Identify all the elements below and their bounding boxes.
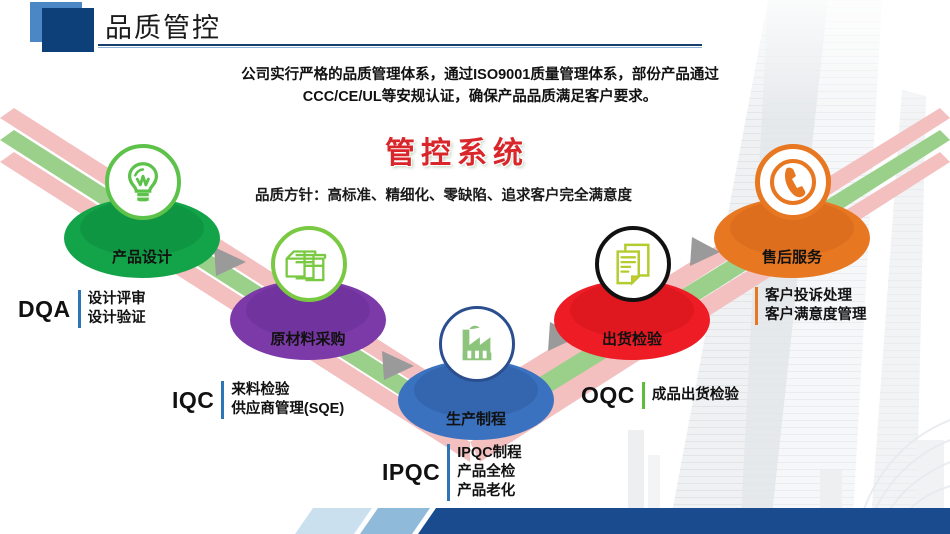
intro-line-1: 公司实行严格的品质管理体系，通过ISO9001质量管理体系，部份产品通过 xyxy=(241,67,719,83)
boxes-icon xyxy=(284,242,334,286)
tag-code: OQC xyxy=(581,382,635,409)
process-node-production[interactable]: 生产制程 xyxy=(396,352,556,442)
node-icon-badge xyxy=(105,144,181,220)
tag-dqa: DQA 设计评审 设计验证 xyxy=(18,290,146,328)
tag-accent-bar xyxy=(755,287,758,325)
tag-lines: 来料检验 供应商管理(SQE) xyxy=(231,381,344,419)
tag-code: IQC xyxy=(172,387,214,414)
tag-line: 供应商管理(SQE) xyxy=(231,401,344,417)
intro-paragraph: 公司实行严格的品质管理体系，通过ISO9001质量管理体系，部份产品通过 CCC… xyxy=(100,64,860,109)
node-icon-badge xyxy=(271,226,347,302)
header-divider-secondary xyxy=(98,47,702,48)
tag-accent-bar xyxy=(642,382,645,409)
node-icon-badge xyxy=(595,226,671,302)
tag-lines: IPQC制程 产品全检 产品老化 xyxy=(457,444,521,501)
tag-lines: 成品出货检验 xyxy=(652,386,739,405)
node-label: 出货检验 xyxy=(552,328,712,349)
slide-canvas: 品质管控 公司实行严格的品质管理体系，通过ISO9001质量管理体系，部份产品通… xyxy=(0,0,950,534)
tag-accent-bar xyxy=(78,290,81,328)
process-node-raw-material-purchase[interactable]: 原材料采购 xyxy=(228,272,388,362)
tag-after-sales: 客户投诉处理 客户满意度管理 xyxy=(755,287,867,325)
process-node-shipment-inspection[interactable]: 出货检验 xyxy=(552,272,712,362)
tag-lines: 设计评审 设计验证 xyxy=(88,290,146,328)
node-label: 售后服务 xyxy=(712,246,872,267)
tag-line: 产品全检 xyxy=(457,464,515,480)
lightbulb-icon xyxy=(120,159,166,205)
node-icon-badge xyxy=(439,306,515,382)
quality-policy-line: 品质方针：高标准、精细化、零缺陷、追求客户完全满意度 xyxy=(255,184,632,205)
factory-icon xyxy=(454,322,500,366)
tag-ipqc: IPQC IPQC制程 产品全检 产品老化 xyxy=(382,444,522,501)
intro-line-2: CCC/CE/UL等安规认证，确保产品品质满足客户要求。 xyxy=(303,89,657,105)
process-node-after-sales-service[interactable]: 售后服务 xyxy=(712,190,872,280)
node-icon-badge xyxy=(755,144,831,220)
tag-line: 客户投诉处理 xyxy=(765,288,852,304)
tag-line: 设计验证 xyxy=(88,310,146,326)
node-label: 产品设计 xyxy=(62,246,222,267)
tag-code: IPQC xyxy=(382,459,440,486)
tag-line: 来料检验 xyxy=(231,382,289,398)
tag-line: 设计评审 xyxy=(88,291,146,307)
tag-lines: 客户投诉处理 客户满意度管理 xyxy=(765,287,867,325)
tag-code: DQA xyxy=(18,296,71,323)
node-label: 原材料采购 xyxy=(228,328,388,349)
header-divider xyxy=(98,44,702,46)
node-label: 生产制程 xyxy=(396,408,556,429)
tag-line: 成品出货检验 xyxy=(652,387,739,403)
tag-iqc: IQC 来料检验 供应商管理(SQE) xyxy=(172,381,344,419)
tag-line: 产品老化 xyxy=(457,483,515,499)
document-icon xyxy=(611,241,655,287)
footer-accent-bar xyxy=(0,500,950,534)
telephone-icon xyxy=(766,155,820,209)
tag-line: IPQC制程 xyxy=(457,445,521,461)
tag-line: 客户满意度管理 xyxy=(765,307,867,323)
system-title: 管控系统 xyxy=(385,128,529,172)
process-node-product-design[interactable]: 产品设计 xyxy=(62,190,222,280)
tag-accent-bar xyxy=(447,444,450,501)
tag-oqc: OQC 成品出货检验 xyxy=(581,382,739,409)
page-title: 品质管控 xyxy=(105,6,221,45)
tag-accent-bar xyxy=(221,381,224,419)
header-accent-square-dark xyxy=(42,8,94,52)
